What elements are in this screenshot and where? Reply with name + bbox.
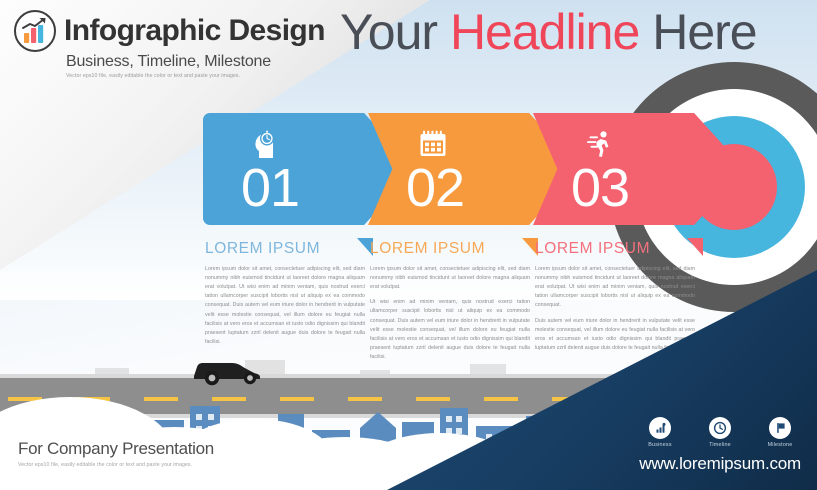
header-fine-print: Vector eps10 file, easily editable the c… bbox=[66, 73, 354, 79]
footer-badge-business[interactable]: Business bbox=[639, 417, 681, 448]
footer-left: For Company Presentation Vector eps10 fi… bbox=[18, 439, 214, 468]
footer-badges: Business Timeline Mile bbox=[639, 417, 801, 448]
footer-fine-print: Vector eps10 file, easily editable the c… bbox=[18, 462, 214, 468]
bar-chart-growth-icon bbox=[14, 10, 56, 52]
footer-badge-label: Business bbox=[639, 442, 681, 448]
step-number-02: 02 bbox=[406, 161, 464, 215]
step-heading-02: LOREM IPSUM bbox=[370, 240, 530, 258]
step-heading-01: LOREM IPSUM bbox=[205, 240, 365, 258]
app-title: Infographic Design bbox=[64, 16, 325, 46]
headline-part1: Your bbox=[340, 4, 437, 60]
clock-icon bbox=[709, 417, 731, 439]
flag-icon bbox=[769, 417, 791, 439]
footer-right: Business Timeline Mile bbox=[639, 417, 801, 474]
footer-badge-timeline[interactable]: Timeline bbox=[699, 417, 741, 448]
footer-badge-milestone[interactable]: Milestone bbox=[759, 417, 801, 448]
header: Infographic Design Business, Timeline, M… bbox=[14, 10, 354, 79]
footer-url[interactable]: www.loremipsum.com bbox=[639, 454, 801, 474]
bar-chart-icon bbox=[649, 417, 671, 439]
app-subtitle: Business, Timeline, Milestone bbox=[66, 53, 354, 71]
step-number-03: 03 bbox=[571, 161, 629, 215]
step-number-01: 01 bbox=[241, 161, 299, 215]
logo-row: Infographic Design bbox=[14, 10, 354, 52]
infographic-canvas: Infographic Design Business, Timeline, M… bbox=[0, 0, 817, 490]
headline-part2: Here bbox=[652, 4, 756, 60]
headline-accent: Headline bbox=[450, 4, 639, 60]
page-headline: Your Headline Here bbox=[340, 6, 790, 59]
footer-badge-label: Timeline bbox=[699, 442, 741, 448]
car-icon bbox=[188, 352, 266, 386]
step-heading-03: LOREM IPSUM bbox=[535, 240, 695, 258]
step-paragraph-02-1: Lorem ipsum dolor sit amet, consectetuer… bbox=[370, 265, 530, 292]
step-paragraph-03-1: Lorem ipsum dolor sit amet, consectetuer… bbox=[535, 265, 695, 311]
footer-title: For Company Presentation bbox=[18, 439, 214, 459]
footer-badge-label: Milestone bbox=[759, 442, 801, 448]
